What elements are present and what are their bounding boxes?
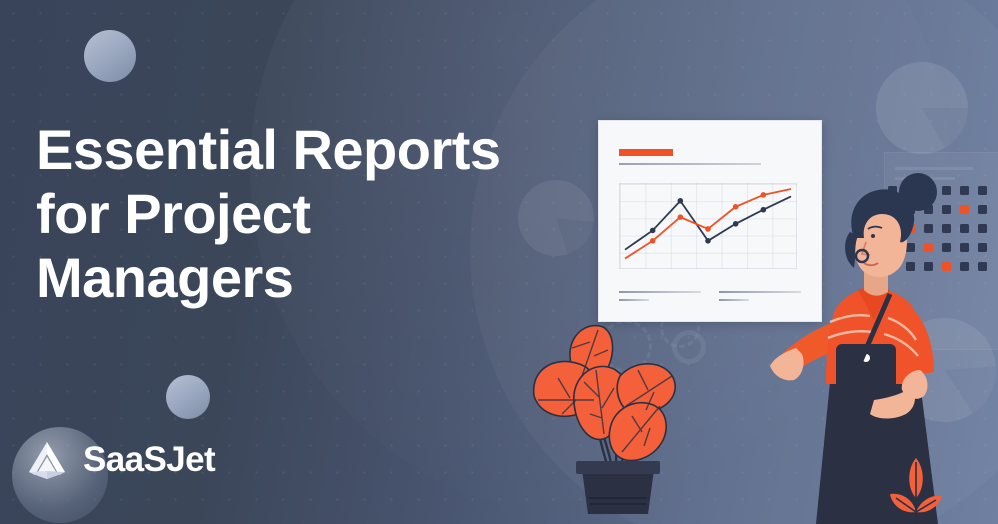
brand-name: SaaSJet xyxy=(83,440,215,480)
saasjet-prism-icon xyxy=(24,437,70,483)
calendar-cell xyxy=(978,262,987,271)
page-title: Essential Reports for Project Managers xyxy=(36,118,596,309)
calendar-cell xyxy=(978,224,987,233)
chart-marker xyxy=(678,198,684,204)
chart-marker xyxy=(705,238,711,244)
board-rule xyxy=(619,163,761,165)
chart-marker xyxy=(705,226,711,232)
potted-plant-icon xyxy=(520,318,705,524)
chart-marker xyxy=(761,207,767,213)
marketing-banner: Essential Reports for Project Managers xyxy=(0,0,998,524)
brand-logo[interactable]: SaaSJet xyxy=(24,437,215,483)
chart-marker xyxy=(761,192,767,198)
calendar-cell xyxy=(978,186,987,195)
chart-marker xyxy=(733,221,739,227)
board-title-bar xyxy=(619,149,673,156)
calendar-cell xyxy=(960,262,969,271)
calendar-cell xyxy=(960,224,969,233)
decorative-orb xyxy=(84,30,136,82)
decorative-orb xyxy=(166,375,210,419)
calendar-cell xyxy=(960,205,969,214)
chart-marker xyxy=(650,228,656,234)
chart-marker xyxy=(678,214,684,220)
calendar-cell xyxy=(960,186,969,195)
chart-marker xyxy=(650,238,656,244)
calendar-cell xyxy=(960,243,969,252)
sprout-icon xyxy=(886,452,946,524)
calendar-cell xyxy=(978,243,987,252)
chart-line-series-b xyxy=(625,189,791,259)
calendar-cell xyxy=(978,205,987,214)
chart-marker xyxy=(733,204,739,210)
